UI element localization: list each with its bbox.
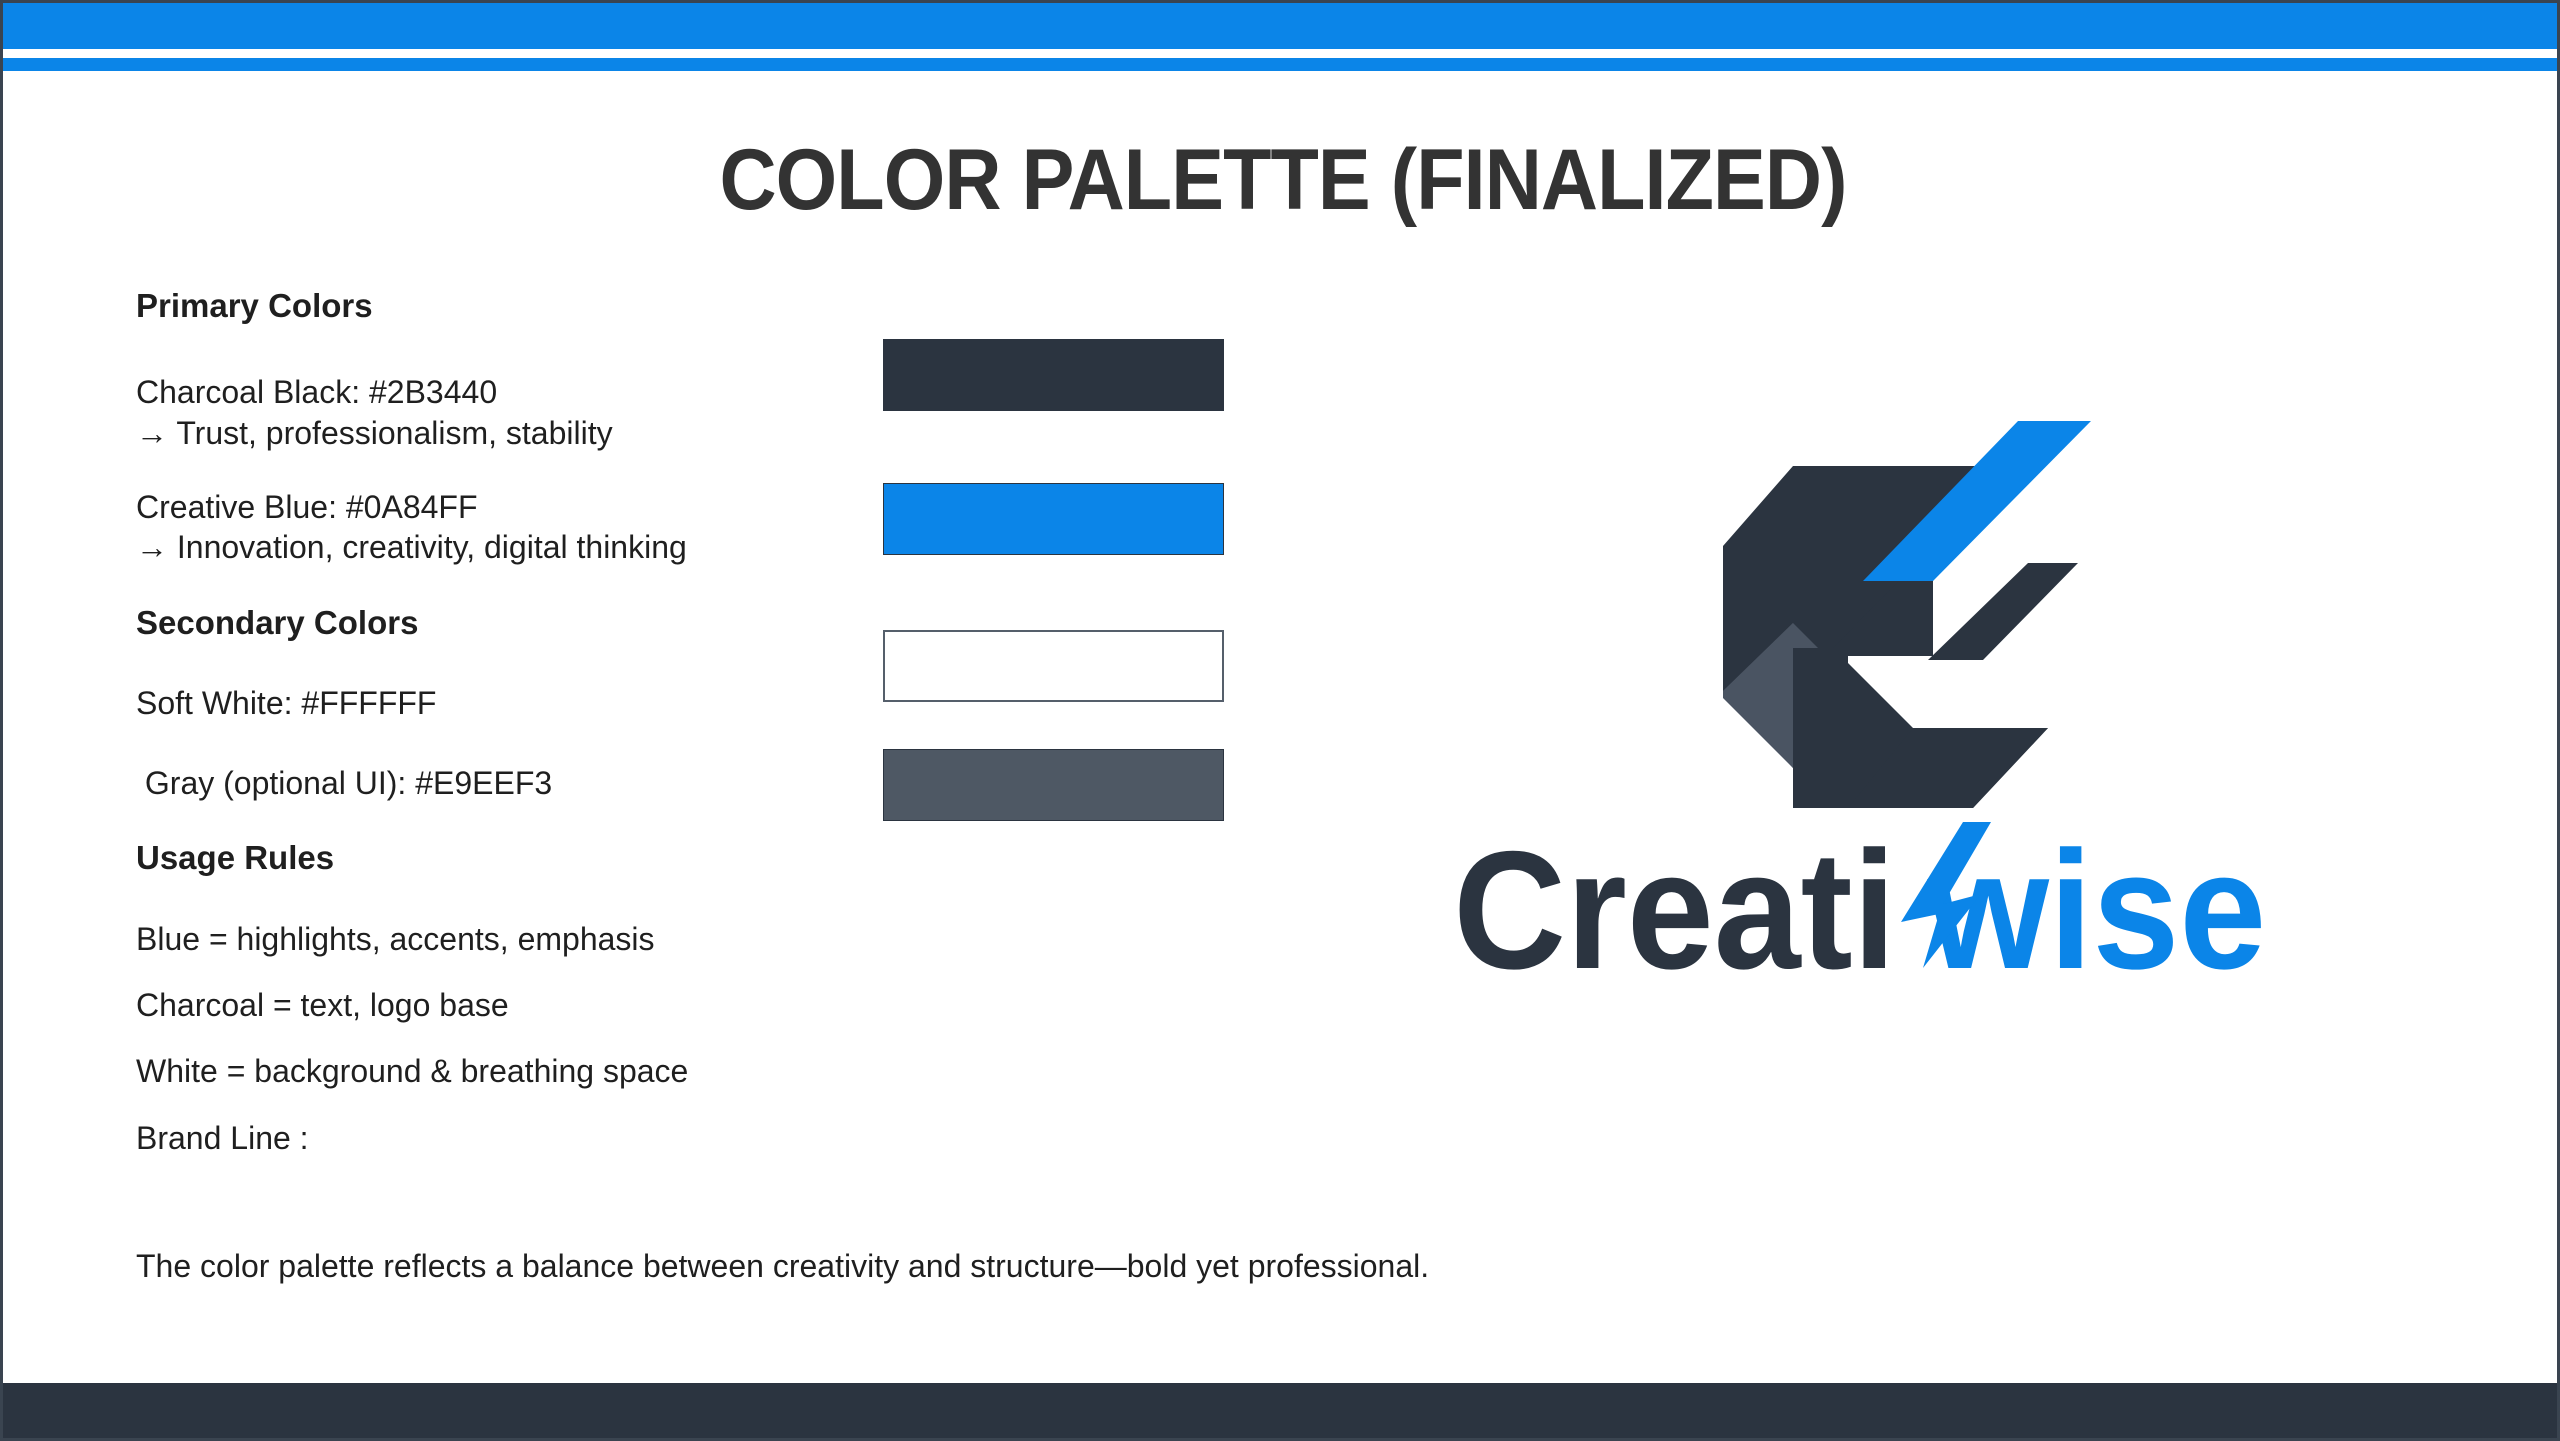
usage-rule-white: White = background & breathing space (136, 1051, 896, 1091)
gray-ui-name-line: Gray (optional UI): #E9EEF3 (136, 763, 896, 803)
wordmark-blue-text: wise (1927, 818, 2267, 1004)
primary-colors-heading: Primary Colors (136, 285, 896, 326)
top-accent-strip (3, 58, 2560, 71)
usage-rules-heading: Usage Rules (136, 837, 896, 878)
top-accent-gap (3, 49, 2560, 58)
usage-rule-charcoal: Charcoal = text, logo base (136, 985, 896, 1025)
creatiwise-logo-mark (1673, 398, 2173, 818)
soft-white-name-line: Soft White: #FFFFFF (136, 683, 896, 723)
charcoal-name-line: Charcoal Black: #2B3440 (136, 372, 896, 412)
brand-block: Creati wise (1403, 398, 2483, 1028)
creative-blue-meaning-line: → Innovation, creativity, digital thinki… (136, 527, 896, 567)
charcoal-black-swatch (883, 339, 1224, 411)
gray-ui-swatch (883, 749, 1224, 821)
top-accent-bar (3, 3, 2560, 49)
page-title: COLOR PALETTE (FINALIZED) (105, 131, 2460, 230)
creative-blue-name-line: Creative Blue: #0A84FF (136, 487, 896, 527)
usage-rule-blue: Blue = highlights, accents, emphasis (136, 919, 896, 959)
creative-blue-swatch (883, 483, 1224, 555)
creatiwise-wordmark: Creati wise (1403, 818, 2483, 1008)
bottom-accent-bar (3, 1383, 2560, 1438)
secondary-colors-heading: Secondary Colors (136, 602, 896, 643)
brand-line-text: The color palette reflects a balance bet… (136, 1246, 1836, 1286)
soft-white-swatch (883, 630, 1224, 702)
palette-text-column: Primary Colors Charcoal Black: #2B3440 →… (136, 285, 896, 1158)
slide-canvas: COLOR PALETTE (FINALIZED) Primary Colors… (0, 0, 2560, 1441)
brand-line-label: Brand Line : (136, 1118, 896, 1158)
charcoal-meaning-line: → Trust, professionalism, stability (136, 413, 896, 453)
wordmark-dark-text: Creati (1453, 818, 1896, 1004)
